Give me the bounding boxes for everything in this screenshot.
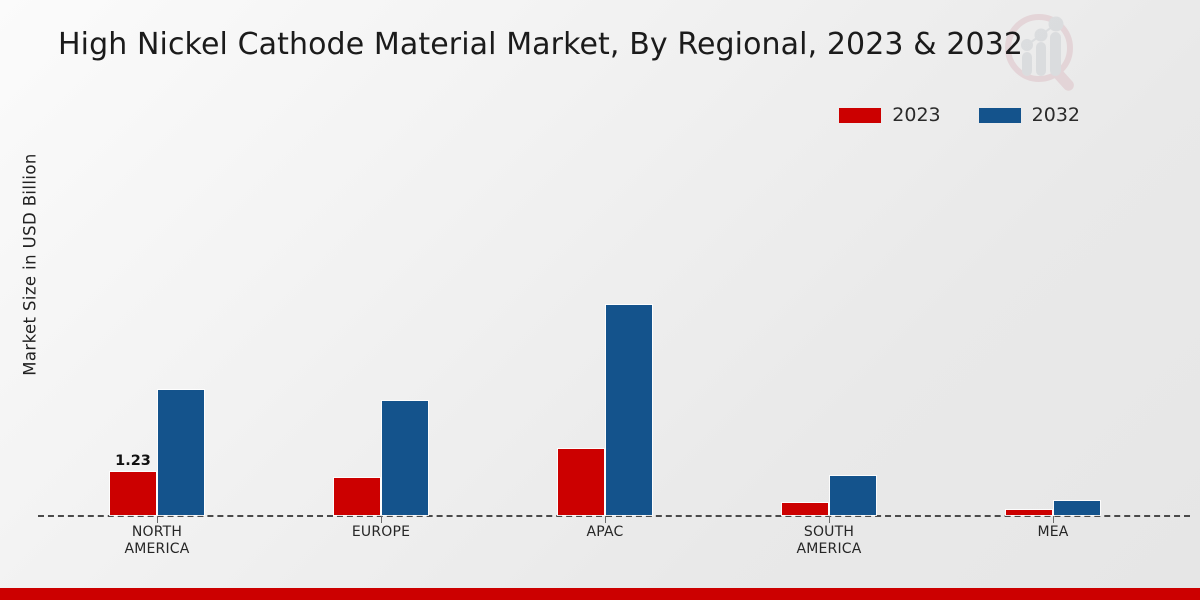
bar-value-2023-north-america: 1.23	[115, 453, 151, 469]
category-label-europe: EUROPE	[352, 524, 410, 541]
baseline-axis	[38, 515, 1190, 517]
legend-item-2032[interactable]: 2032	[979, 104, 1080, 126]
bar-2023-mea[interactable]	[1006, 510, 1052, 515]
bar-2032-europe[interactable]	[382, 401, 428, 515]
bar-2032-north-america[interactable]	[158, 390, 204, 515]
page-title: High Nickel Cathode Material Market, By …	[58, 27, 1023, 62]
tick-south-america	[829, 516, 830, 523]
bar-group-north-america: 1.23	[110, 390, 204, 515]
legend-swatch-2023-icon	[839, 108, 881, 123]
bar-2032-south-america[interactable]	[830, 476, 876, 515]
bar-2023-south-america[interactable]	[782, 503, 828, 515]
chart-legend: 2023 2032	[839, 104, 1080, 126]
legend-item-2023[interactable]: 2023	[839, 104, 940, 126]
legend-label-2023: 2023	[892, 104, 940, 126]
bar-group-mea	[1006, 501, 1100, 515]
y-axis-title: Market Size in USD Billion	[21, 75, 40, 455]
footer-band	[0, 588, 1200, 600]
tick-apac	[605, 516, 606, 523]
category-label-south-america: SOUTH AMERICA	[796, 524, 861, 558]
tick-europe	[381, 516, 382, 523]
bar-2023-north-america[interactable]: 1.23	[110, 472, 156, 515]
bar-2023-europe[interactable]	[334, 478, 380, 515]
category-label-north-america: NORTH AMERICA	[124, 524, 189, 558]
bar-group-apac	[558, 305, 652, 515]
bar-2032-mea[interactable]	[1054, 501, 1100, 515]
legend-swatch-2032-icon	[979, 108, 1021, 123]
tick-mea	[1053, 516, 1054, 523]
category-label-mea: MEA	[1037, 524, 1068, 541]
bar-2023-apac[interactable]	[558, 449, 604, 515]
bar-2032-apac[interactable]	[606, 305, 652, 515]
category-label-apac: APAC	[586, 524, 623, 541]
tick-north-america	[157, 516, 158, 523]
bar-group-europe	[334, 401, 428, 515]
bar-group-south-america	[782, 476, 876, 515]
plot-area: 1.23 NORTH AMERICA EUROPE APAC SOUTH AME…	[38, 140, 1190, 516]
legend-label-2032: 2032	[1032, 104, 1080, 126]
chart-root: High Nickel Cathode Material Market, By …	[0, 0, 1200, 600]
